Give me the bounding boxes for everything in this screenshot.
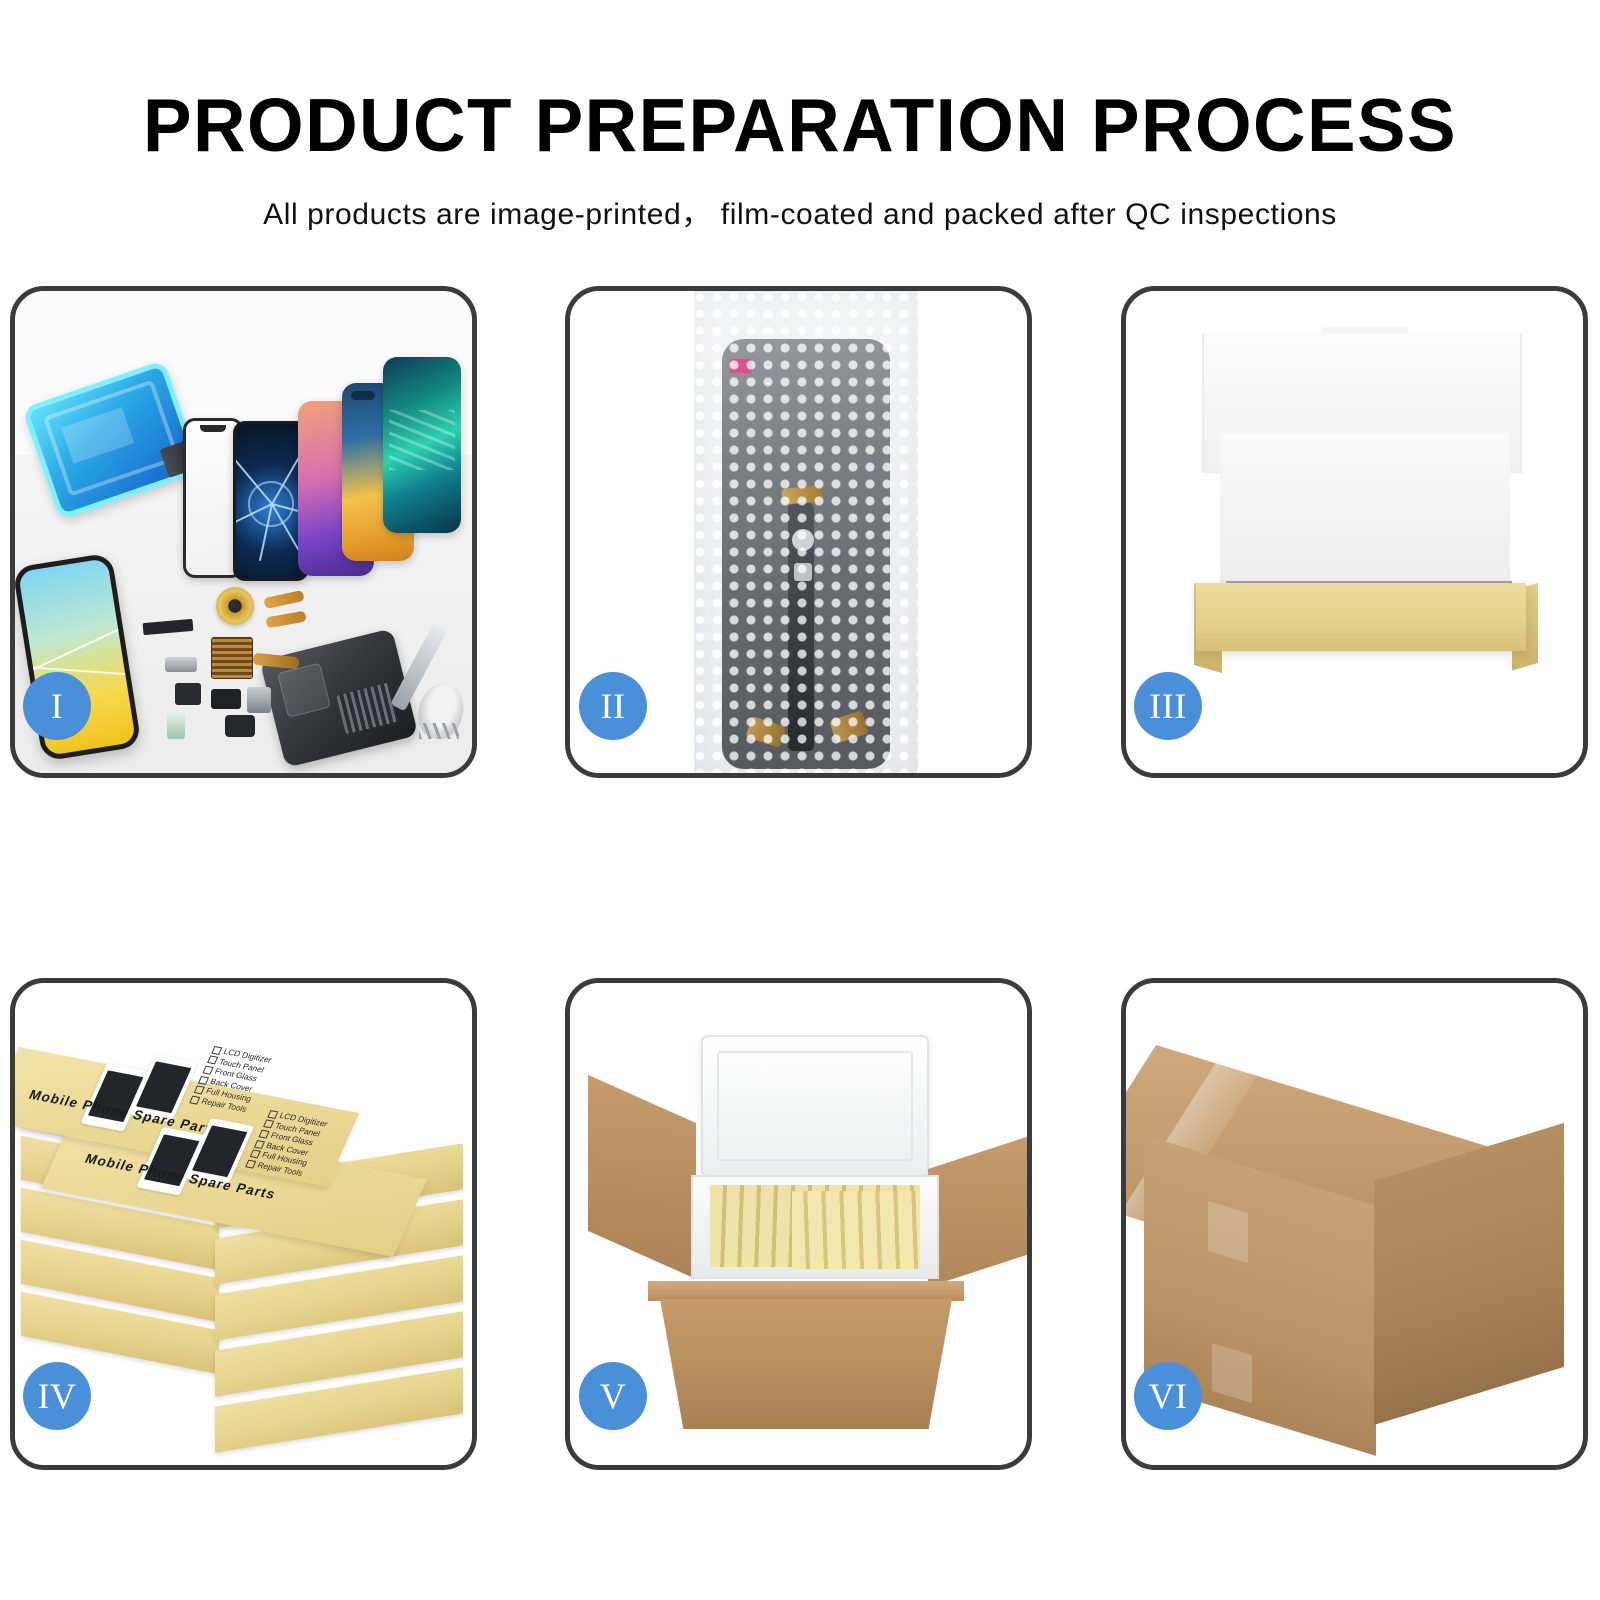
header: PRODUCT PREPARATION PROCESS All products… xyxy=(0,0,1600,233)
small-component-part xyxy=(165,657,197,672)
carton-flap-left xyxy=(588,1075,696,1279)
step-badge-4: IV xyxy=(23,1362,91,1430)
phone-display-teal xyxy=(383,357,461,533)
bubble-wrap-overlay xyxy=(694,291,918,773)
small-component-part xyxy=(175,683,201,705)
process-row-2: Mobile Phone Spare Parts LCD Digitizer T… xyxy=(0,978,1600,1470)
process-row-1: I II xyxy=(0,286,1600,778)
box-inner-white-card xyxy=(1220,433,1510,583)
page-subtitle: All products are image-printed， film-coa… xyxy=(0,189,1600,233)
gold-boxes-inside xyxy=(792,1191,920,1269)
carton-body xyxy=(660,1299,952,1429)
infographic-page: PRODUCT PREPARATION PROCESS All products… xyxy=(0,0,1600,1600)
box-front-panel xyxy=(1196,583,1526,651)
step-badge-2: II xyxy=(579,672,647,740)
page-title: PRODUCT PREPARATION PROCESS xyxy=(24,88,1576,163)
screws-part xyxy=(419,723,459,739)
step-badge-1: I xyxy=(23,672,91,740)
step-badge-3: III xyxy=(1134,672,1202,740)
sim-tray-part xyxy=(167,711,185,739)
foam-box-lid xyxy=(701,1035,929,1177)
wireless-charging-coil-part xyxy=(216,587,254,625)
process-grid: I II xyxy=(0,286,1600,1470)
small-component-part xyxy=(247,687,271,713)
small-component-part xyxy=(211,689,241,709)
small-component-part xyxy=(225,715,255,737)
step-badge-5: V xyxy=(579,1362,647,1430)
carton-top-lip xyxy=(648,1281,964,1301)
carton-flap-right xyxy=(928,1137,1027,1287)
ic-chip-part xyxy=(211,637,253,679)
step-badge-6: VI xyxy=(1134,1362,1202,1430)
